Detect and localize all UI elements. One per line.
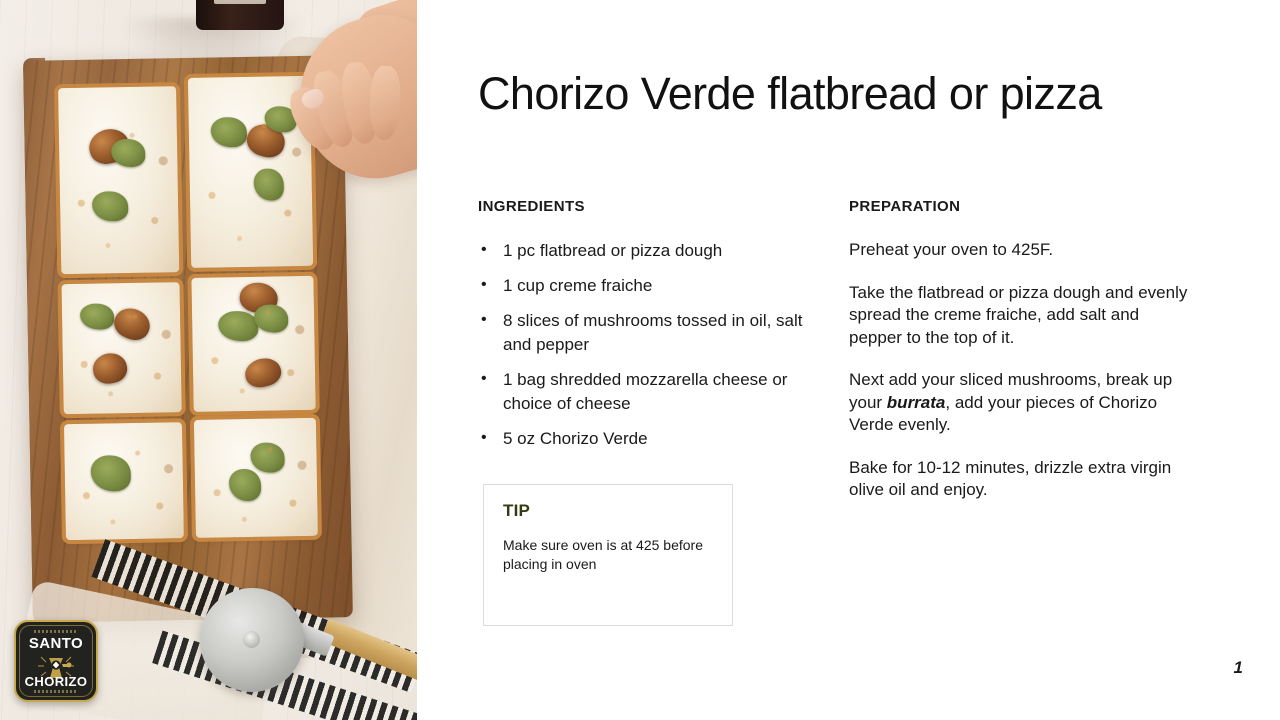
chorizo-verde-piece: [92, 191, 129, 222]
chorizo-verde-piece: [254, 168, 285, 201]
mushroom-slice: [110, 303, 155, 345]
tip-box: TIP Make sure oven is at 425 before plac…: [483, 484, 733, 626]
preparation-heading: PREPARATION: [849, 198, 1194, 215]
tip-body: Make sure oven is at 425 before placing …: [503, 536, 703, 574]
preparation-step: Bake for 10-12 minutes, drizzle extra vi…: [849, 457, 1194, 502]
recipe-slide: SANTO C: [0, 0, 1280, 720]
mushroom-slice: [242, 355, 283, 390]
list-item: 8 slices of mushrooms tossed in oil, sal…: [478, 309, 823, 357]
brand-logo: SANTO C: [14, 620, 98, 702]
ingredients-list: 1 pc flatbread or pizza dough 1 cup crem…: [478, 239, 823, 451]
chorizo-verde-piece: [229, 469, 262, 502]
mushroom-slice: [238, 281, 279, 315]
olive-oil-bottle: [196, 0, 284, 30]
step-text-before: Take the flatbread or pizza dough and ev…: [849, 283, 1187, 347]
chorizo-verde-piece: [218, 311, 259, 342]
chorizo-verde-piece: [211, 117, 248, 148]
ingredients-column: INGREDIENTS 1 pc flatbread or pizza doug…: [478, 198, 823, 462]
list-item: 1 cup creme fraiche: [478, 274, 823, 298]
logo-microtext-bottom: [34, 690, 78, 693]
preparation-step: Next add your sliced mushrooms, break up…: [849, 369, 1194, 437]
pizza-cutter-hub: [243, 631, 260, 648]
content-area: Chorizo Verde flatbread or pizza INGREDI…: [417, 0, 1280, 720]
chorizo-verde-piece: [90, 455, 131, 492]
flatbread-piece: [194, 418, 318, 538]
step-text-before: Preheat your oven to 425F.: [849, 240, 1053, 259]
page-title: Chorizo Verde flatbread or pizza: [478, 68, 1118, 120]
flatbread-piece: [64, 422, 184, 540]
ingredients-heading: INGREDIENTS: [478, 198, 823, 215]
mushroom-slice: [85, 125, 132, 168]
chorizo-verde-piece: [111, 139, 145, 168]
list-item: 5 oz Chorizo Verde: [478, 427, 823, 451]
mushroom-slice: [91, 351, 129, 386]
preparation-step: Take the flatbread or pizza dough and ev…: [849, 282, 1194, 350]
flatbread-piece: [58, 86, 179, 274]
step-emphasis: burrata: [887, 393, 946, 412]
page-number: 1: [1234, 658, 1243, 678]
list-item: 1 bag shredded mozzarella cheese or choi…: [478, 368, 823, 416]
flatbread-piece: [191, 276, 315, 412]
chorizo-verde-piece: [80, 303, 114, 330]
recipe-photo: SANTO C: [0, 0, 417, 720]
logo-line-santo: SANTO: [16, 635, 96, 652]
step-text-before: Bake for 10-12 minutes, drizzle extra vi…: [849, 458, 1171, 500]
flatbread: [58, 84, 318, 540]
list-item: 1 pc flatbread or pizza dough: [478, 239, 823, 263]
chorizo-verde-piece: [250, 442, 285, 473]
preparation-step: Preheat your oven to 425F.: [849, 239, 1194, 262]
flatbread-piece: [61, 282, 181, 414]
logo-line-chorizo: CHORIZO: [16, 674, 96, 689]
bottle-label: [214, 0, 266, 4]
tip-heading: TIP: [503, 501, 530, 521]
preparation-column: PREPARATION Preheat your oven to 425F. T…: [849, 198, 1194, 522]
chorizo-verde-piece: [254, 304, 288, 333]
mushroom-slice: [243, 120, 289, 162]
logo-microtext-top: [34, 630, 78, 633]
